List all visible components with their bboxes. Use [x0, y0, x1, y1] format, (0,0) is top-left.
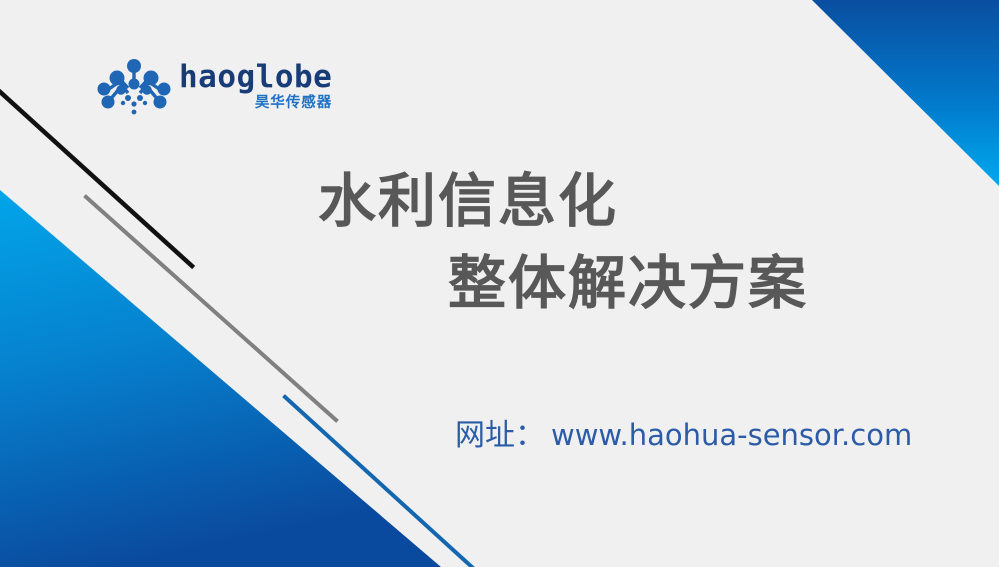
brand-wordmark: haoglobe [179, 62, 332, 93]
top-right-blue-triangle [812, 0, 999, 186]
website-url[interactable]: www.haohua-sensor.com [551, 418, 912, 453]
slide-title-line-1: 水利信息化 [0, 160, 999, 242]
slide-title-line-2: 整体解决方案 [0, 242, 999, 324]
brand-sub-wordmark: 昊华传感器 [255, 96, 333, 111]
website-label: 网址： [455, 418, 545, 454]
website-line: 网址： www.haohua-sensor.com [455, 418, 912, 454]
slide-title: 水利信息化 整体解决方案 [0, 160, 999, 325]
haoglobe-network-dots-logo [97, 57, 171, 115]
brand-logo: haoglobe 昊华传感器 [97, 57, 332, 115]
presentation-slide: haoglobe 昊华传感器 水利信息化 整体解决方案 网址： www.haoh… [0, 0, 999, 567]
blue-diagonal-line [285, 397, 473, 567]
brand-logo-text: haoglobe 昊华传感器 [179, 62, 332, 111]
